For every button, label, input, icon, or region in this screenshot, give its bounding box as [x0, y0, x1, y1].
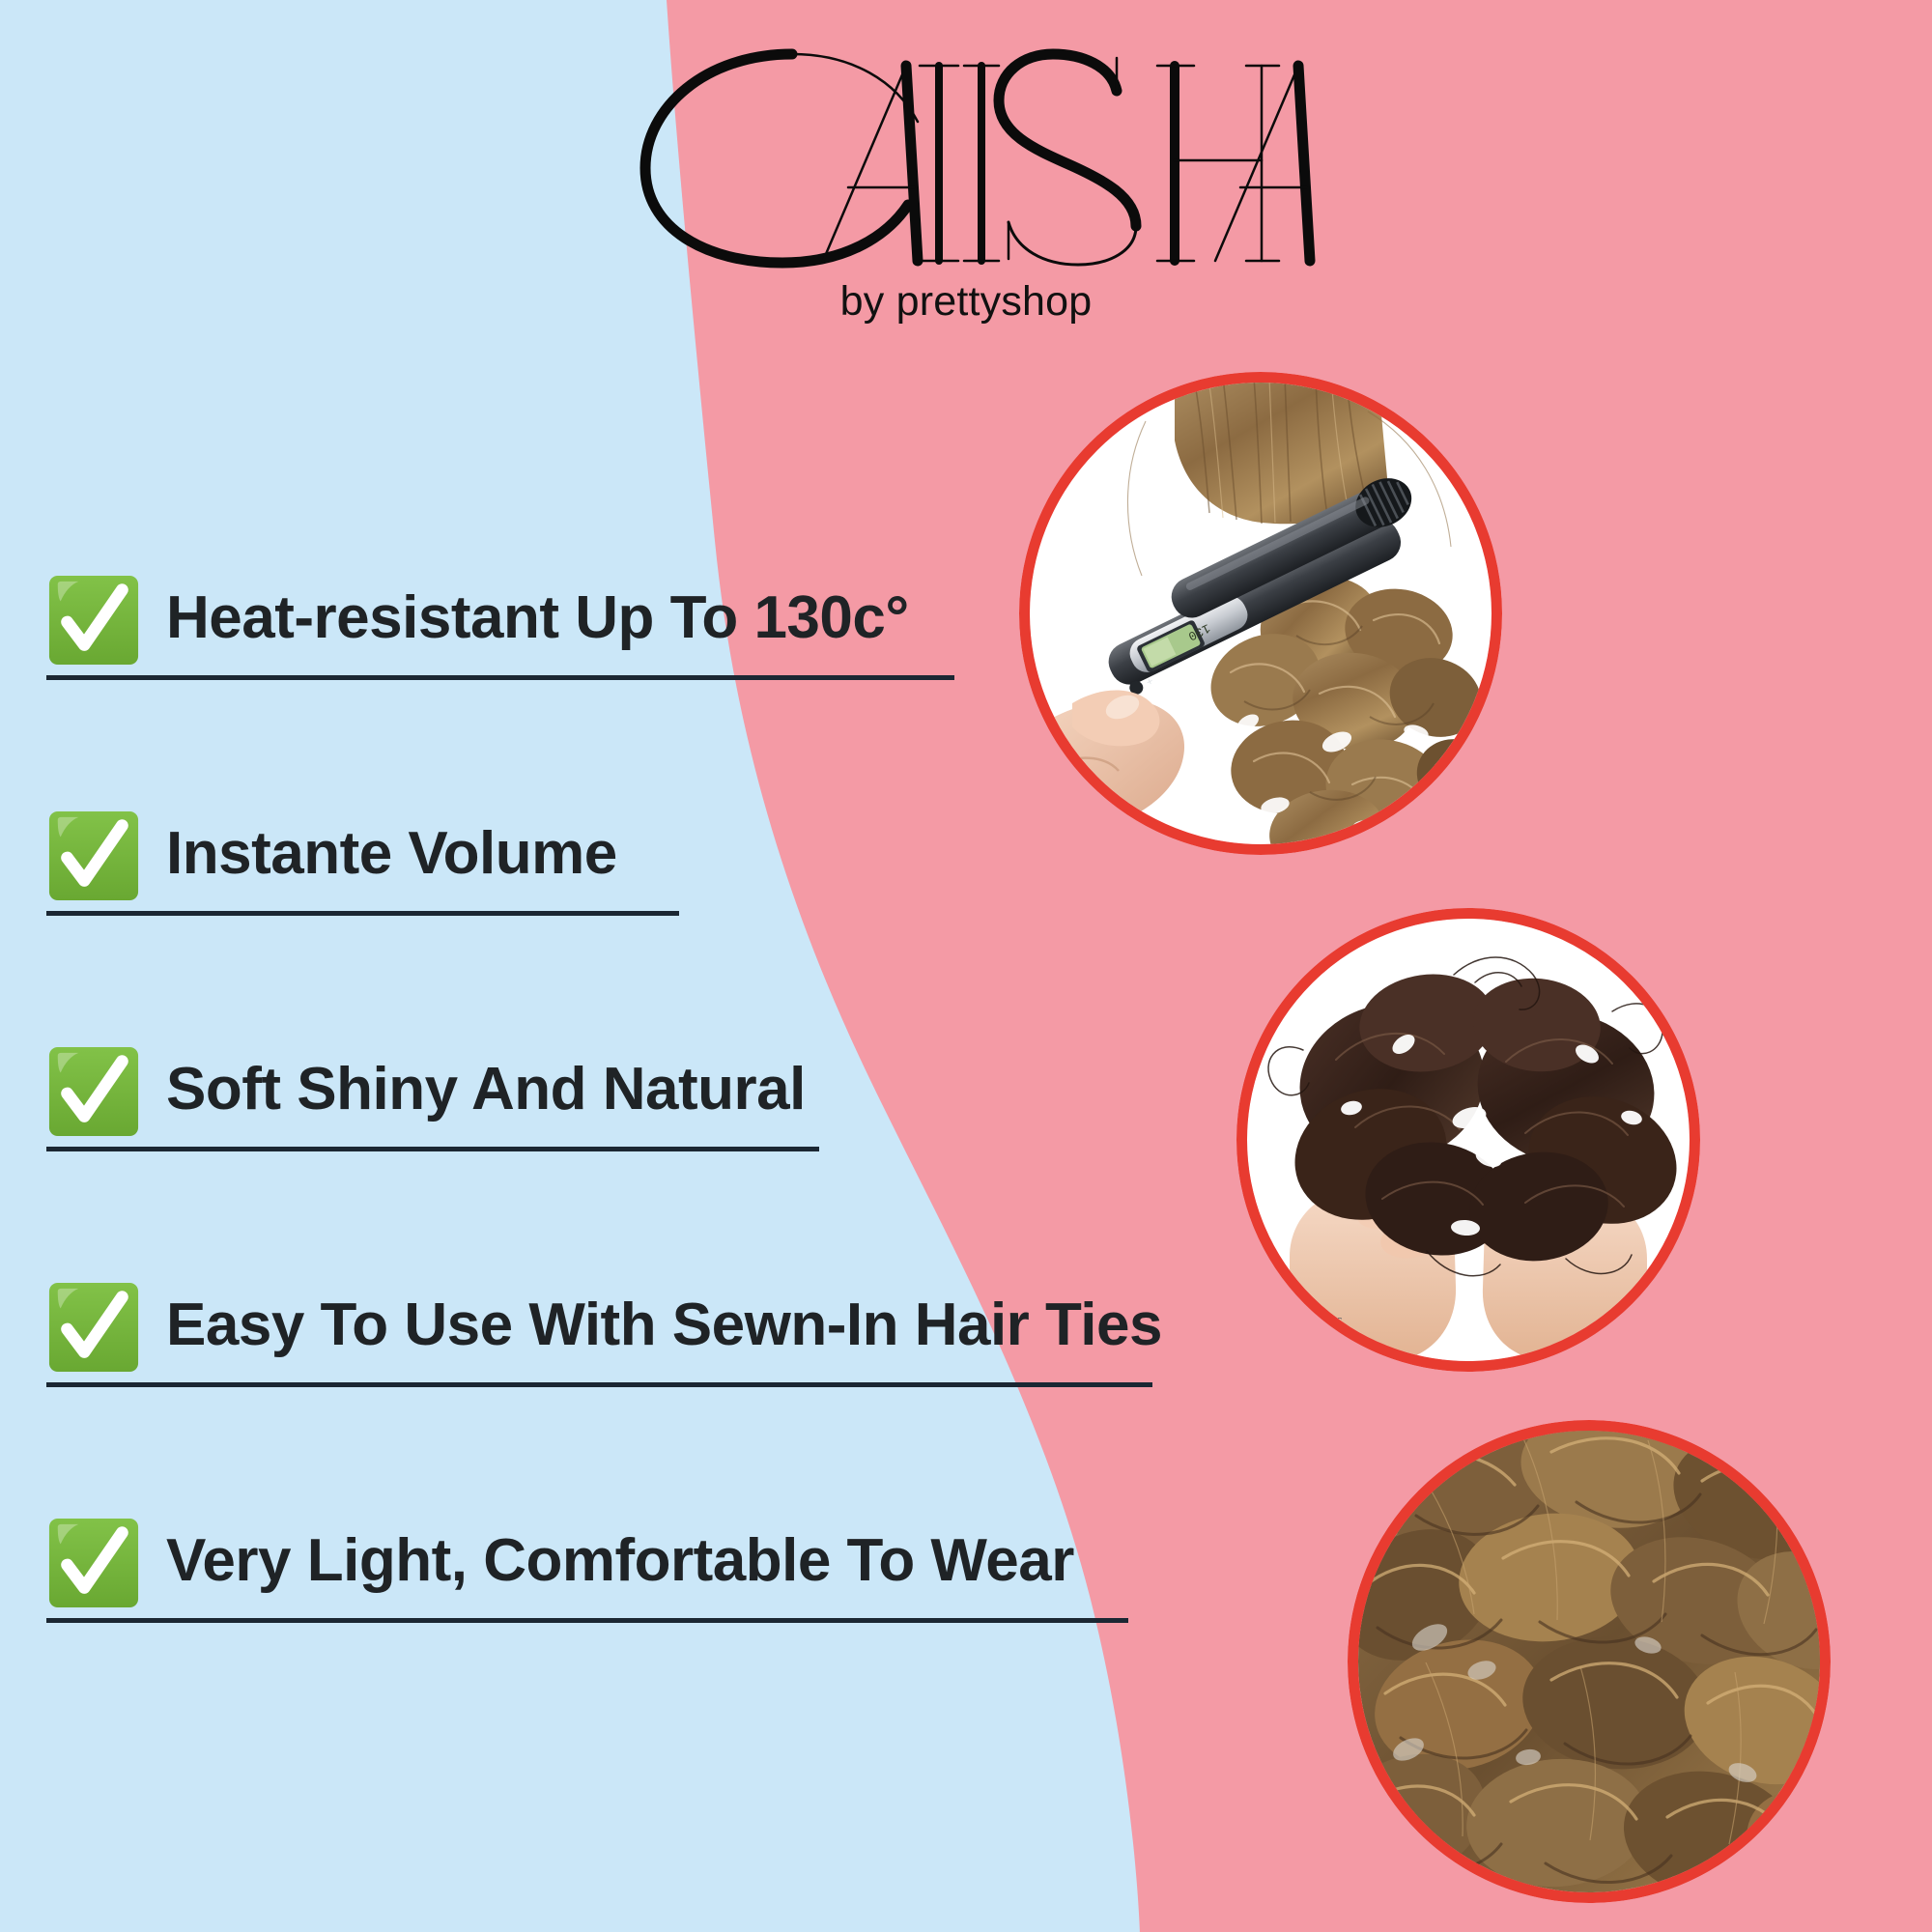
photo-image-hairpiece-in-hands: I refus men — [1247, 919, 1690, 1361]
feature-underline — [46, 1618, 1128, 1623]
feature-underline — [46, 1147, 819, 1151]
brand-logo-block: by prettyshop — [0, 33, 1932, 326]
feature-underline — [46, 675, 954, 680]
check-square-icon — [46, 573, 141, 668]
check-square-icon — [46, 1280, 141, 1375]
feature-row: Easy To Use With Sewn-In Hair Ties — [46, 1277, 1186, 1378]
feature-label: Very Light, Comfortable To Wear — [166, 1531, 1074, 1595]
product-photo-hairpiece-in-hands: I refus men — [1236, 908, 1700, 1372]
brand-tagline: by prettyshop — [840, 278, 1093, 326]
feature-label: Instante Volume — [166, 824, 617, 888]
feature-row: Instante Volume — [46, 806, 1186, 906]
check-square-icon — [46, 1044, 141, 1139]
photo-image-curl-texture — [1358, 1431, 1820, 1892]
check-square-icon — [46, 809, 141, 903]
product-photo-curl-texture — [1348, 1420, 1831, 1903]
product-infographic: by prettyshop Heat-resistant U — [0, 0, 1932, 1932]
feature-row: Very Light, Comfortable To Wear — [46, 1513, 1186, 1613]
feature-row: Heat-resistant Up To 130c° — [46, 570, 1186, 670]
feature-label: Soft Shiny And Natural — [166, 1060, 806, 1123]
feature-label: Easy To Use With Sewn-In Hair Ties — [166, 1295, 1162, 1359]
feature-list: Heat-resistant Up To 130c° Instante Volu… — [46, 570, 1186, 1613]
check-square-icon — [46, 1516, 141, 1610]
feature-label: Heat-resistant Up To 130c° — [166, 588, 909, 652]
feature-row: Soft Shiny And Natural — [46, 1041, 1186, 1142]
feature-underline — [46, 911, 679, 916]
feature-underline — [46, 1382, 1152, 1387]
caisha-wordmark-logo — [599, 33, 1333, 274]
